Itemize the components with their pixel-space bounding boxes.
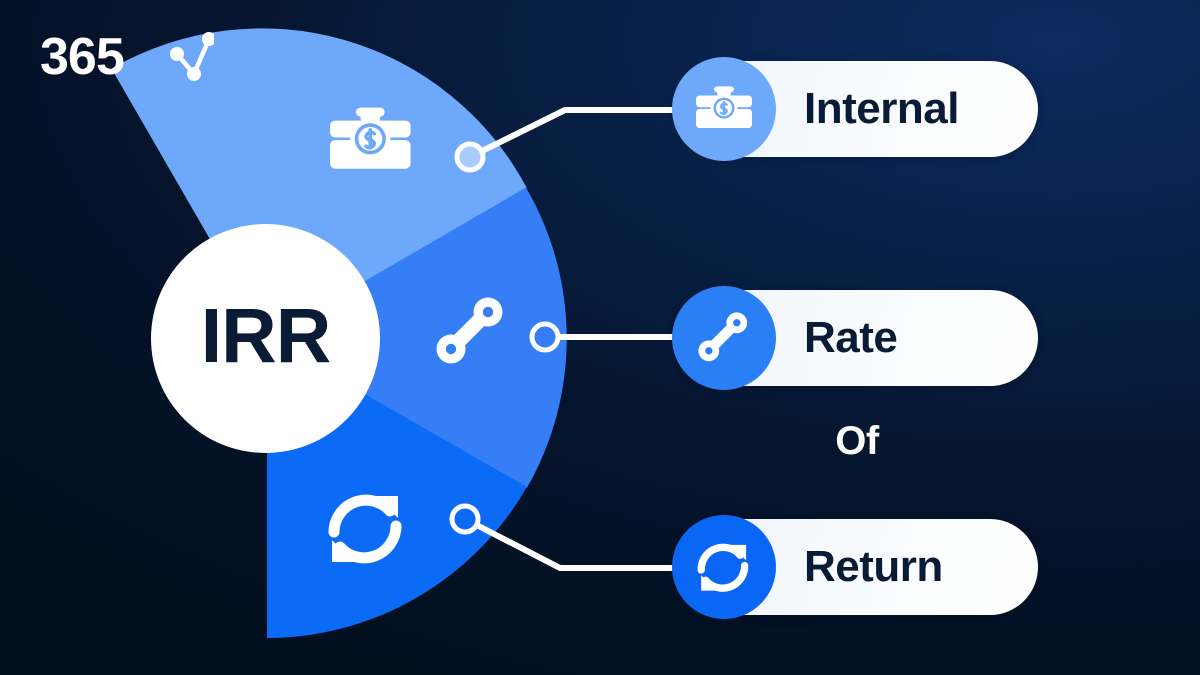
connector-dot-internal[interactable] (457, 144, 483, 170)
refresh-loop-icon (672, 515, 776, 619)
pill-return[interactable]: Return (676, 519, 1038, 615)
connector-dot-rate[interactable] (532, 324, 558, 350)
briefcase-dollar-icon (672, 57, 776, 161)
pill-label-return: Return (804, 542, 943, 592)
pill-label-rate: Rate (804, 313, 897, 363)
infographic-canvas: 365 IRR (0, 0, 1200, 675)
pill-label-internal: Internal (804, 84, 959, 134)
center-disc: IRR (151, 224, 380, 453)
pill-internal[interactable]: Internal (676, 61, 1038, 157)
pill-rate[interactable]: Rate (676, 290, 1038, 386)
logo-text: 365 (40, 28, 124, 86)
percent-icon (672, 286, 776, 390)
connector-label-of: Of (676, 419, 1038, 464)
connector-dot-return[interactable] (452, 506, 478, 532)
brand-logo[interactable]: 365 (38, 22, 258, 102)
page-title: IRR (201, 298, 331, 379)
connector-rate (532, 324, 690, 350)
data-points-v-icon (134, 22, 214, 102)
